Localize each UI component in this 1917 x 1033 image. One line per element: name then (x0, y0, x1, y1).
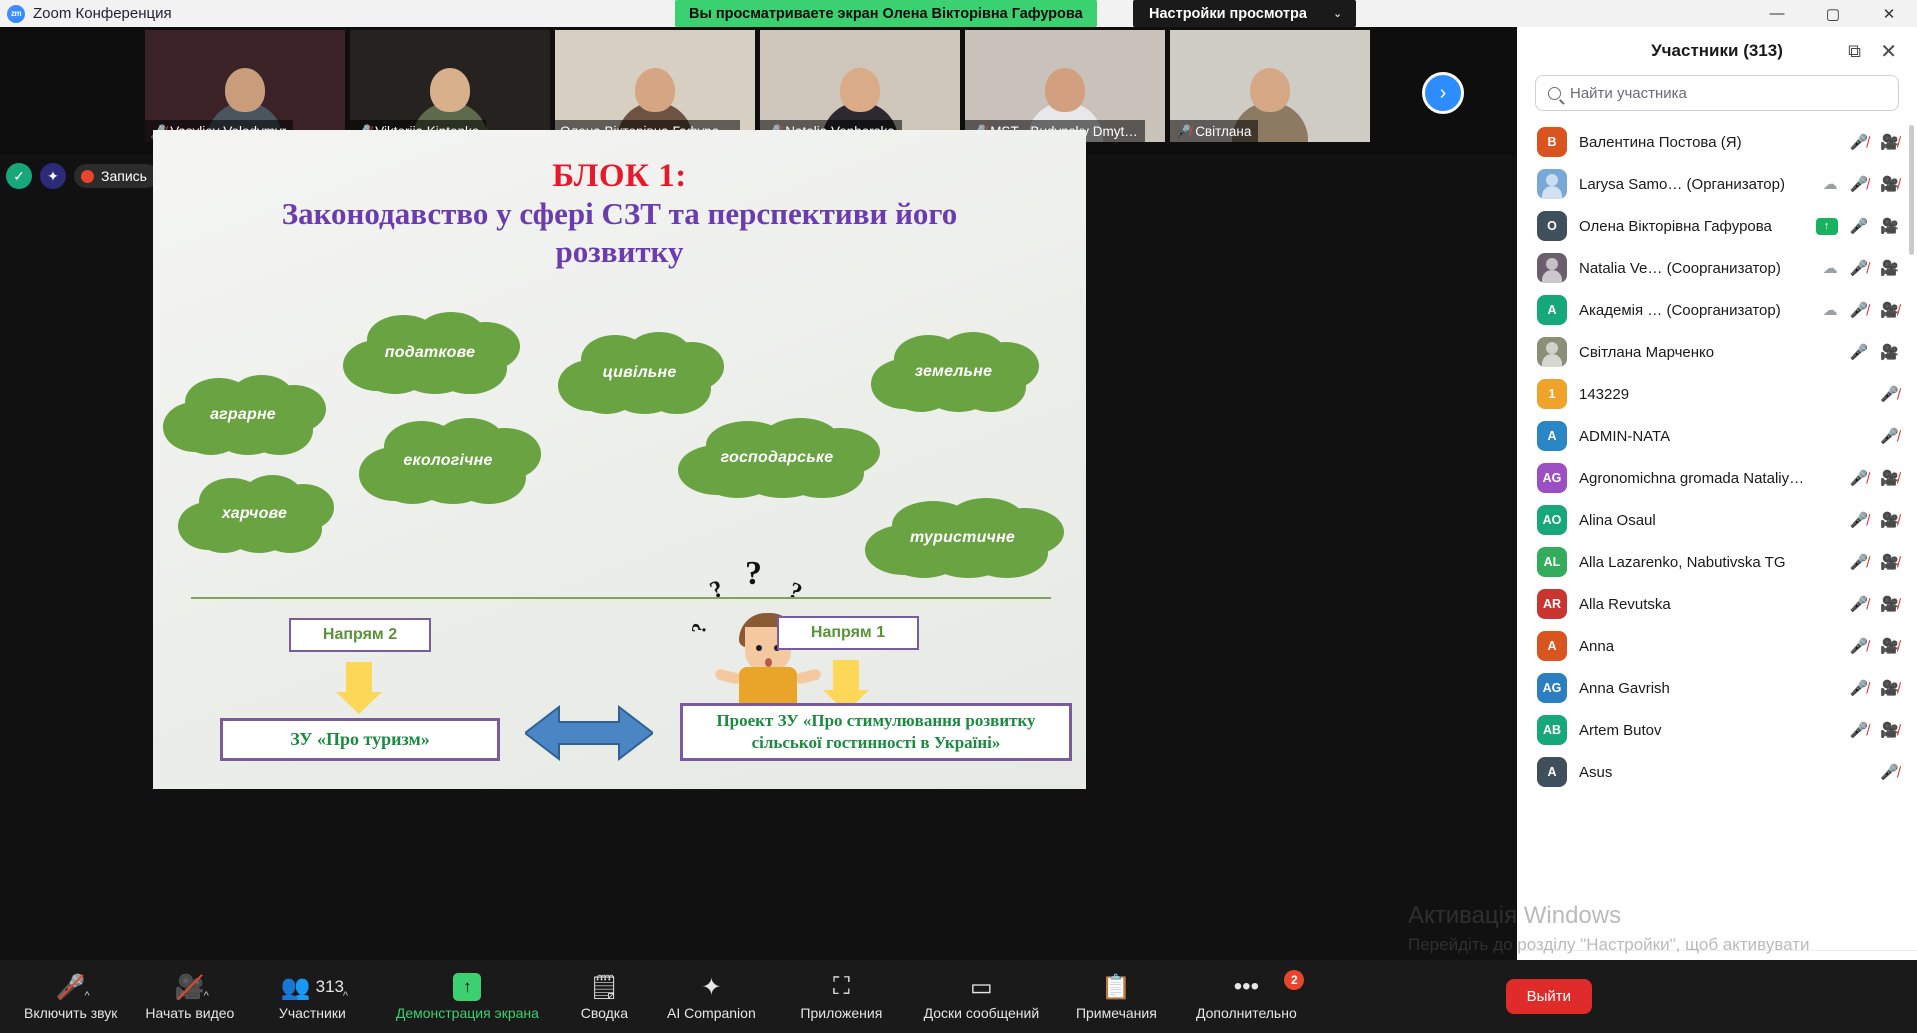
participant-row[interactable]: AGAgronomichna gromada Nataliy…🎤̸🎥̸ (1517, 457, 1917, 499)
camera-off-icon[interactable]: 🎥̸ (1880, 513, 1899, 528)
toolbar-notes-button[interactable]: 📋Примечания (1056, 960, 1176, 1033)
camera-off-icon[interactable]: 🎥̸ (1880, 639, 1899, 654)
avatar: О (1537, 211, 1567, 241)
participant-name-wrap: Agronomichna gromada Nataliy… (1579, 470, 1838, 487)
toolbar-summary-button[interactable]: 🗒Сводка (562, 960, 646, 1033)
cloud-recording-icon: ☁ (1823, 261, 1838, 276)
participant-status-icons: 🎤̸🎥̸ (1850, 681, 1899, 696)
participant-status-icons: 🎤̸ (1880, 387, 1899, 402)
participant-name: Світлана Марченко (1579, 344, 1714, 361)
question-mark-icon: ? (688, 622, 712, 636)
thumbnail-name: Світлана (1195, 124, 1251, 139)
thumbnail-label: 🎤̸Світлана (1170, 120, 1258, 142)
participant-name: Asus (1579, 764, 1612, 781)
cloud-label: туристичне (865, 498, 1060, 578)
slide-title-line1: БЛОК 1: (153, 158, 1086, 195)
popout-icon[interactable]: ⧉ (1848, 41, 1861, 62)
direction-box: Напрям 2 (289, 618, 431, 652)
ai-sparkle-icon[interactable]: ✦ (40, 163, 66, 189)
cloud-label: екологічне (359, 418, 537, 504)
participant-name-wrap: Alla Revutska (1579, 596, 1838, 613)
avatar: AG (1537, 673, 1567, 703)
camera-off-icon[interactable]: 🎥̸ (1880, 303, 1899, 318)
cloud-shape: податкове (343, 312, 517, 394)
leave-meeting-button[interactable]: Выйти (1506, 979, 1592, 1014)
screen-share-banner: Вы просматриваете экран Олена Вікторівна… (675, 0, 1097, 27)
more-icon: ••• (1234, 972, 1259, 1002)
avatar: AR (1537, 589, 1567, 619)
participant-name: Академія … (1579, 302, 1662, 319)
slide-title-line2: Законодавство у сфері СЗТ та перспективи… (153, 195, 1086, 271)
participant-row[interactable]: ABArtem Butov🎤̸🎥̸ (1517, 709, 1917, 751)
participant-name-wrap: Alla Lazarenko, Nabutivska TG (1579, 554, 1838, 571)
toolbar-whiteboard-button[interactable]: ▭Доски сообщений (906, 960, 1056, 1033)
participant-role: (Соорганизатор) (1666, 302, 1780, 319)
participant-name: Anna Gavrish (1579, 680, 1670, 697)
participant-status-icons: 🎤̸ (1880, 765, 1899, 780)
question-mark-icon: ? (745, 555, 762, 593)
participant-row[interactable]: ВВалентина Постова (Я)🎤̸🎥̸ (1517, 121, 1917, 163)
participant-status-icons: 🎤̸🎥̸ (1850, 639, 1899, 654)
mic-off-icon[interactable]: 🎤̸ (1850, 303, 1869, 318)
cloud-shape: аграрне (163, 375, 323, 455)
participant-row[interactable]: ARAlla Revutska🎤̸🎥̸ (1517, 583, 1917, 625)
camera-off-icon[interactable]: 🎥̸ (1880, 723, 1899, 738)
participant-role: (Я) (1721, 134, 1742, 151)
participant-name-wrap: 143229 (1579, 386, 1868, 403)
meeting-toolbar: 🎤^Включить звук🎥^Начать видео👥313^Участн… (0, 960, 1917, 1033)
cloud-label: цивільне (558, 332, 721, 414)
close-panel-icon[interactable]: ✕ (1880, 39, 1897, 64)
participant-name-wrap: ADMIN-NATA (1579, 428, 1868, 445)
slide-divider (191, 597, 1051, 599)
toolbar-label: Приложения (800, 1005, 882, 1021)
participant-search-input[interactable]: Найти участника (1535, 75, 1899, 111)
participant-status-icons: 🎤̸🎥̸ (1850, 471, 1899, 486)
toolbar-people-button[interactable]: 👥313^Участники (252, 960, 372, 1033)
avatar: А (1537, 295, 1567, 325)
mic-off-icon[interactable]: 🎤̸ (1880, 429, 1899, 444)
avatar: 1 (1537, 379, 1567, 409)
maximize-button[interactable]: ▢ (1805, 0, 1861, 27)
mic-off-icon[interactable]: 🎤̸ (1850, 135, 1869, 150)
participant-name-wrap: Natalia Ve… (Соорганизатор) (1579, 260, 1811, 277)
video-thumbnail[interactable]: 🎤̸Natalia Venherska (760, 30, 960, 142)
avatar: AG (1537, 463, 1567, 493)
yellow-arrow-down-icon (336, 662, 382, 714)
participant-status-icons: 🎤̸ (1880, 429, 1899, 444)
toolbar-label: Участники (279, 1005, 346, 1021)
participant-status-icons: 🎤🎥 (1850, 345, 1899, 360)
participant-role: (Соорганизатор) (1667, 260, 1781, 277)
participant-name-wrap: Академія … (Соорганизатор) (1579, 302, 1811, 319)
participant-status-icons: ☁🎤̸🎥 (1823, 261, 1899, 276)
camera-on-icon[interactable]: 🎥 (1880, 261, 1899, 276)
minimize-button[interactable]: — (1749, 0, 1805, 27)
view-settings-button[interactable]: Настройки просмотра ⌄ (1133, 0, 1356, 27)
participant-name: Larysa Samo… (1579, 176, 1682, 193)
toolbar-label: Дополнительно (1196, 1005, 1297, 1021)
participant-row[interactable]: AOAlina Osaul🎤̸🎥̸ (1517, 499, 1917, 541)
video-thumbnail[interactable]: 🎤̸MST - Budynsky Dmyt… (965, 30, 1165, 142)
participant-name: Alina Osaul (1579, 512, 1656, 529)
participant-row[interactable]: ALAlla Lazarenko, Nabutivska TG🎤̸🎥̸ (1517, 541, 1917, 583)
avatar (1537, 169, 1567, 199)
camera-off-icon[interactable]: 🎥̸ (1880, 177, 1899, 192)
participants-title: Участники (313) (1651, 41, 1783, 61)
toolbar-more-button[interactable]: •••Дополнительно2 (1176, 960, 1316, 1033)
camera-off-icon[interactable]: 🎥̸ (1880, 597, 1899, 612)
view-settings-label: Настройки просмотра (1149, 6, 1307, 22)
camera-off-icon[interactable]: 🎥̸ (1880, 135, 1899, 150)
video-thumbnail[interactable]: 🎤̸Vasyliev Volodymyr (145, 30, 345, 142)
cloud-recording-icon: ☁ (1823, 303, 1838, 318)
toolbar-cam-off-button[interactable]: 🎥^Начать видео (127, 960, 252, 1033)
chevron-up-icon[interactable]: ^ (343, 990, 348, 1002)
participant-row[interactable]: 1143229🎤̸ (1517, 373, 1917, 415)
participant-name: Alla Lazarenko, Nabutivska TG (1579, 554, 1786, 571)
participants-panel: Участники (313) ⧉ ✕ Найти участника ВВал… (1517, 27, 1917, 1012)
people-icon: 👥313^ (281, 972, 344, 1002)
toolbar-label: AI Companion (667, 1005, 756, 1021)
whiteboard-icon: ▭ (970, 972, 993, 1002)
participant-status-icons: 🎤̸🎥̸ (1850, 135, 1899, 150)
participant-status-icons: 🎤̸🎥̸ (1850, 723, 1899, 738)
toolbar-mic-off-button[interactable]: 🎤^Включить звук (14, 960, 127, 1033)
recording-label: Запись (101, 168, 147, 184)
participants-list[interactable]: ВВалентина Постова (Я)🎤̸🎥̸Larysa Samo… (… (1517, 121, 1917, 950)
avatar: AO (1537, 505, 1567, 535)
video-thumbnail[interactable]: Олена Вікторівна Гафуро… (555, 30, 755, 142)
share-up-icon: ↑ (453, 972, 481, 1002)
avatar: A (1537, 631, 1567, 661)
participants-panel-header: Участники (313) ⧉ ✕ (1517, 27, 1917, 75)
record-dot-icon (81, 170, 94, 183)
law-box: Проект ЗУ «Про стимулювання розвитку сіл… (680, 703, 1072, 761)
avatar: AL (1537, 547, 1567, 577)
direction-box: Напрям 1 (777, 616, 919, 650)
cloud-label: господарське (678, 418, 876, 498)
avatar (1537, 337, 1567, 367)
cloud-shape: господарське (678, 418, 876, 498)
participant-name-wrap: Валентина Постова (Я) (1579, 134, 1838, 151)
participant-row[interactable]: Natalia Ve… (Соорганизатор)☁🎤̸🎥 (1517, 247, 1917, 289)
cloud-shape: харчове (178, 475, 331, 553)
sparkle-icon: ✦ (701, 972, 721, 1002)
participant-row[interactable]: Larysa Samo… (Организатор)☁🎤̸🎥̸ (1517, 163, 1917, 205)
participant-row[interactable]: ААкадемія … (Соорганизатор)☁🎤̸🎥̸ (1517, 289, 1917, 331)
participant-name: Alla Revutska (1579, 596, 1671, 613)
camera-on-icon[interactable]: 🎥 (1880, 219, 1899, 234)
cloud-label: земельне (871, 332, 1036, 412)
mic-off-icon[interactable]: 🎤̸ (1880, 765, 1899, 780)
cloud-label: харчове (178, 475, 331, 553)
video-thumbnail[interactable]: 🎤̸Світлана (1170, 30, 1370, 142)
thumbnail-strip: 🎤̸Vasyliev Volodymyr🎤̸Viktoriia Kiptenko… (145, 30, 1370, 142)
panel-scrollbar[interactable] (1909, 125, 1914, 255)
double-arrow-icon (525, 705, 653, 761)
slide-title: БЛОК 1: Законодавство у сфері СЗТ та пер… (153, 158, 1086, 271)
cloud-shape: цивільне (558, 332, 721, 414)
toolbar-share-up-button[interactable]: ↑Демонстрация экрана (372, 960, 562, 1033)
mic-off-icon[interactable]: 🎤̸ (1850, 723, 1869, 738)
participant-name: Anna (1579, 638, 1614, 655)
participant-row[interactable]: AAnna🎤̸🎥̸ (1517, 625, 1917, 667)
recording-indicator[interactable]: Запись (74, 164, 158, 188)
cloud-recording-icon: ☁ (1823, 177, 1838, 192)
notes-icon: 📋 (1101, 972, 1131, 1002)
participant-name-wrap: Asus (1579, 764, 1868, 781)
status-badges: ✓ ✦ Запись (6, 163, 158, 189)
avatar (1537, 253, 1567, 283)
participant-name: 143229 (1579, 386, 1629, 403)
cloud-label: аграрне (163, 375, 323, 455)
participant-role: (Организатор) (1687, 176, 1785, 193)
cloud-shape: земельне (871, 332, 1036, 412)
mic-off-icon[interactable]: 🎤̸ (1880, 387, 1899, 402)
participant-name-wrap: Світлана Марченко (1579, 344, 1838, 361)
video-thumbnail[interactable]: 🎤̸Viktoriia Kiptenko (350, 30, 550, 142)
participant-name-wrap: Олена Вікторівна Гафурова (1579, 218, 1804, 235)
mic-off-icon: 🎤^ (56, 972, 86, 1002)
participant-name: Agronomichna gromada Nataliy… (1579, 470, 1804, 487)
avatar: A (1537, 757, 1567, 787)
chevron-down-icon: ⌄ (1333, 7, 1342, 20)
participant-row[interactable]: AADMIN-NATA🎤̸ (1517, 415, 1917, 457)
participant-status-icons: ☁🎤̸🎥̸ (1823, 177, 1899, 192)
search-placeholder: Найти участника (1570, 85, 1687, 102)
cloud-shape: туристичне (865, 498, 1060, 578)
mic-off-icon[interactable]: 🎤̸ (1850, 597, 1869, 612)
toolbar-sparkle-button[interactable]: ✦AI Companion (646, 960, 776, 1033)
mic-on-icon[interactable]: 🎤 (1850, 345, 1869, 360)
participant-name: Natalia Ve… (1579, 260, 1662, 277)
participant-status-icons: ↑🎤🎥 (1816, 218, 1899, 235)
toolbar-apps-button[interactable]: ⛶Приложения (776, 960, 906, 1033)
participant-name: Валентина Постова (1579, 134, 1717, 151)
zoom-meeting-window: zm Zoom Конференция Вы просматриваете эк… (0, 0, 1917, 1033)
toolbar-label: Включить звук (24, 1005, 117, 1021)
participant-name-wrap: Alina Osaul (1579, 512, 1838, 529)
apps-icon: ⛶ (833, 972, 850, 1002)
mic-off-icon[interactable]: 🎤̸ (1850, 261, 1869, 276)
filmstrip-next-button[interactable]: › (1422, 72, 1464, 114)
participant-status-icons: 🎤̸🎥̸ (1850, 513, 1899, 528)
window-controls: — ▢ ✕ (1749, 0, 1917, 27)
window-title: Zoom Конференция (33, 5, 172, 22)
camera-off-icon[interactable]: 🎥̸ (1880, 471, 1899, 486)
mic-on-icon[interactable]: 🎤 (1850, 219, 1869, 234)
participant-name-wrap: Anna Gavrish (1579, 680, 1838, 697)
mic-off-icon[interactable]: 🎤̸ (1850, 681, 1869, 696)
toolbar-label: Демонстрация экрана (396, 1005, 539, 1021)
participant-status-icons: 🎤̸🎥̸ (1850, 597, 1899, 612)
law-box: ЗУ «Про туризм» (220, 718, 500, 761)
toolbar-label: Сводка (581, 1005, 628, 1021)
toolbar-label: Доски сообщений (924, 1005, 1040, 1021)
toolbar-label: Начать видео (145, 1005, 234, 1021)
participant-status-icons: ☁🎤̸🎥̸ (1823, 303, 1899, 318)
summary-icon: 🗒 (589, 972, 619, 1002)
mic-off-icon[interactable]: 🎤̸ (1850, 555, 1869, 570)
question-mark-icon: ? (706, 576, 727, 606)
participant-name: Олена Вікторівна Гафурова (1579, 218, 1772, 235)
camera-on-icon[interactable]: 🎥 (1880, 345, 1899, 360)
avatar: AB (1537, 715, 1567, 745)
screen-share-icon: ↑ (1816, 218, 1838, 235)
mic-off-icon[interactable]: 🎤̸ (1850, 177, 1869, 192)
close-button[interactable]: ✕ (1861, 0, 1917, 27)
cloud-label: податкове (343, 312, 517, 394)
avatar: A (1537, 421, 1567, 451)
mic-off-icon[interactable]: 🎤̸ (1850, 639, 1869, 654)
cloud-shape: екологічне (359, 418, 537, 504)
search-icon (1548, 87, 1561, 100)
participant-name-wrap: Anna (1579, 638, 1838, 655)
participant-row[interactable]: ООлена Вікторівна Гафурова↑🎤🎥 (1517, 205, 1917, 247)
title-bar: zm Zoom Конференция Вы просматриваете эк… (0, 0, 1917, 27)
participant-row[interactable]: AAsus🎤̸ (1517, 751, 1917, 793)
mic-off-icon[interactable]: 🎤̸ (1850, 471, 1869, 486)
participant-name-wrap: Larysa Samo… (Организатор) (1579, 176, 1811, 193)
chevron-up-icon[interactable]: ^ (204, 990, 209, 1002)
participant-name: ADMIN-NATA (1579, 428, 1670, 445)
toolbar-items: 🎤^Включить звук🎥^Начать видео👥313^Участн… (14, 960, 1316, 1033)
question-mark-icon: ? (785, 578, 806, 607)
camera-off-icon[interactable]: 🎥̸ (1880, 555, 1899, 570)
mic-off-icon[interactable]: 🎤̸ (1850, 513, 1869, 528)
encryption-shield-icon[interactable]: ✓ (6, 163, 32, 189)
participant-name-wrap: Artem Butov (1579, 722, 1838, 739)
camera-off-icon[interactable]: 🎥̸ (1880, 681, 1899, 696)
avatar: В (1537, 127, 1567, 157)
participant-row[interactable]: Світлана Марченко🎤🎥 (1517, 331, 1917, 373)
toolbar-label: Примечания (1076, 1005, 1157, 1021)
notification-badge: 2 (1284, 970, 1304, 990)
zoom-logo-icon: zm (7, 5, 25, 23)
cam-off-icon: 🎥^ (175, 972, 205, 1002)
mic-off-icon: 🎤̸ (1175, 125, 1191, 138)
shared-screen-slide: БЛОК 1: Законодавство у сфері СЗТ та пер… (153, 130, 1086, 789)
chevron-up-icon[interactable]: ^ (84, 990, 89, 1002)
participant-row[interactable]: AGAnna Gavrish🎤̸🎥̸ (1517, 667, 1917, 709)
search-wrapper: Найти участника (1517, 75, 1917, 121)
participant-name: Artem Butov (1579, 722, 1662, 739)
participant-status-icons: 🎤̸🎥̸ (1850, 555, 1899, 570)
